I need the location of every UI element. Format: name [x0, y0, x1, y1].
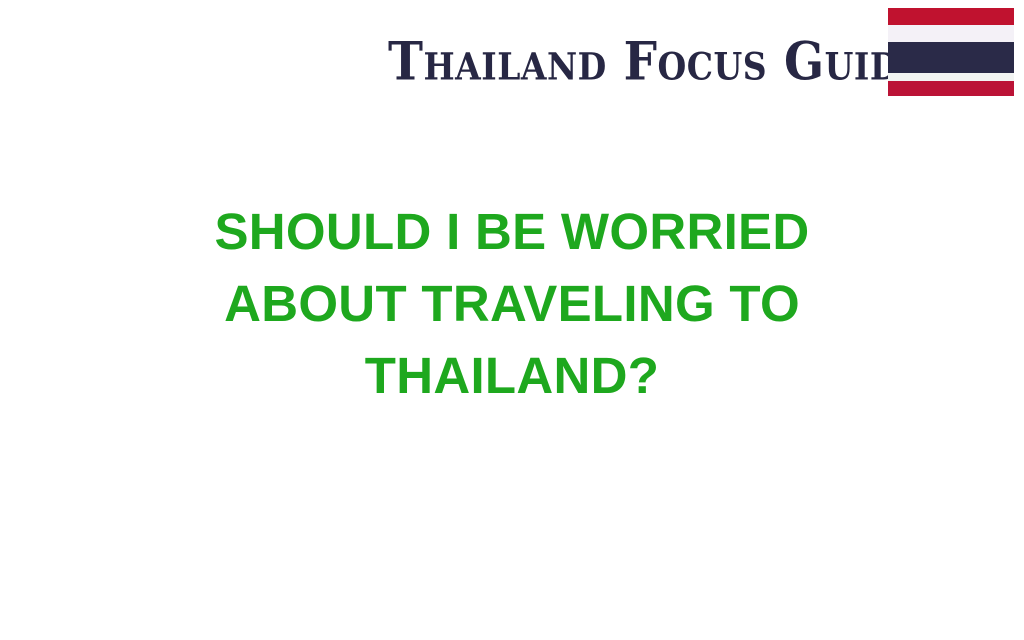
flag-stripe-red-top — [888, 8, 1014, 25]
page-title: SHOULD I BE WORRIED ABOUT TRAVELING TO T… — [0, 196, 1024, 412]
flag-stripe-white-lower — [888, 73, 1014, 81]
site-header: Thailand Focus Guide — [0, 0, 1024, 110]
page-root: Thailand Focus Guide SHOULD I BE WORRIED… — [0, 0, 1024, 640]
brand-wordmark[interactable]: Thailand Focus Guide — [388, 36, 925, 89]
headline-block: SHOULD I BE WORRIED ABOUT TRAVELING TO T… — [0, 196, 1024, 412]
headline-line-1: SHOULD I BE WORRIED — [0, 196, 1024, 268]
headline-line-3: THAILAND? — [0, 340, 1024, 412]
thailand-flag-icon — [888, 8, 1014, 96]
headline-line-2: ABOUT TRAVELING TO — [0, 268, 1024, 340]
flag-stripe-white-upper — [888, 25, 1014, 42]
flag-stripe-red-bottom — [888, 81, 1014, 96]
flag-stripe-navy — [888, 42, 1014, 73]
